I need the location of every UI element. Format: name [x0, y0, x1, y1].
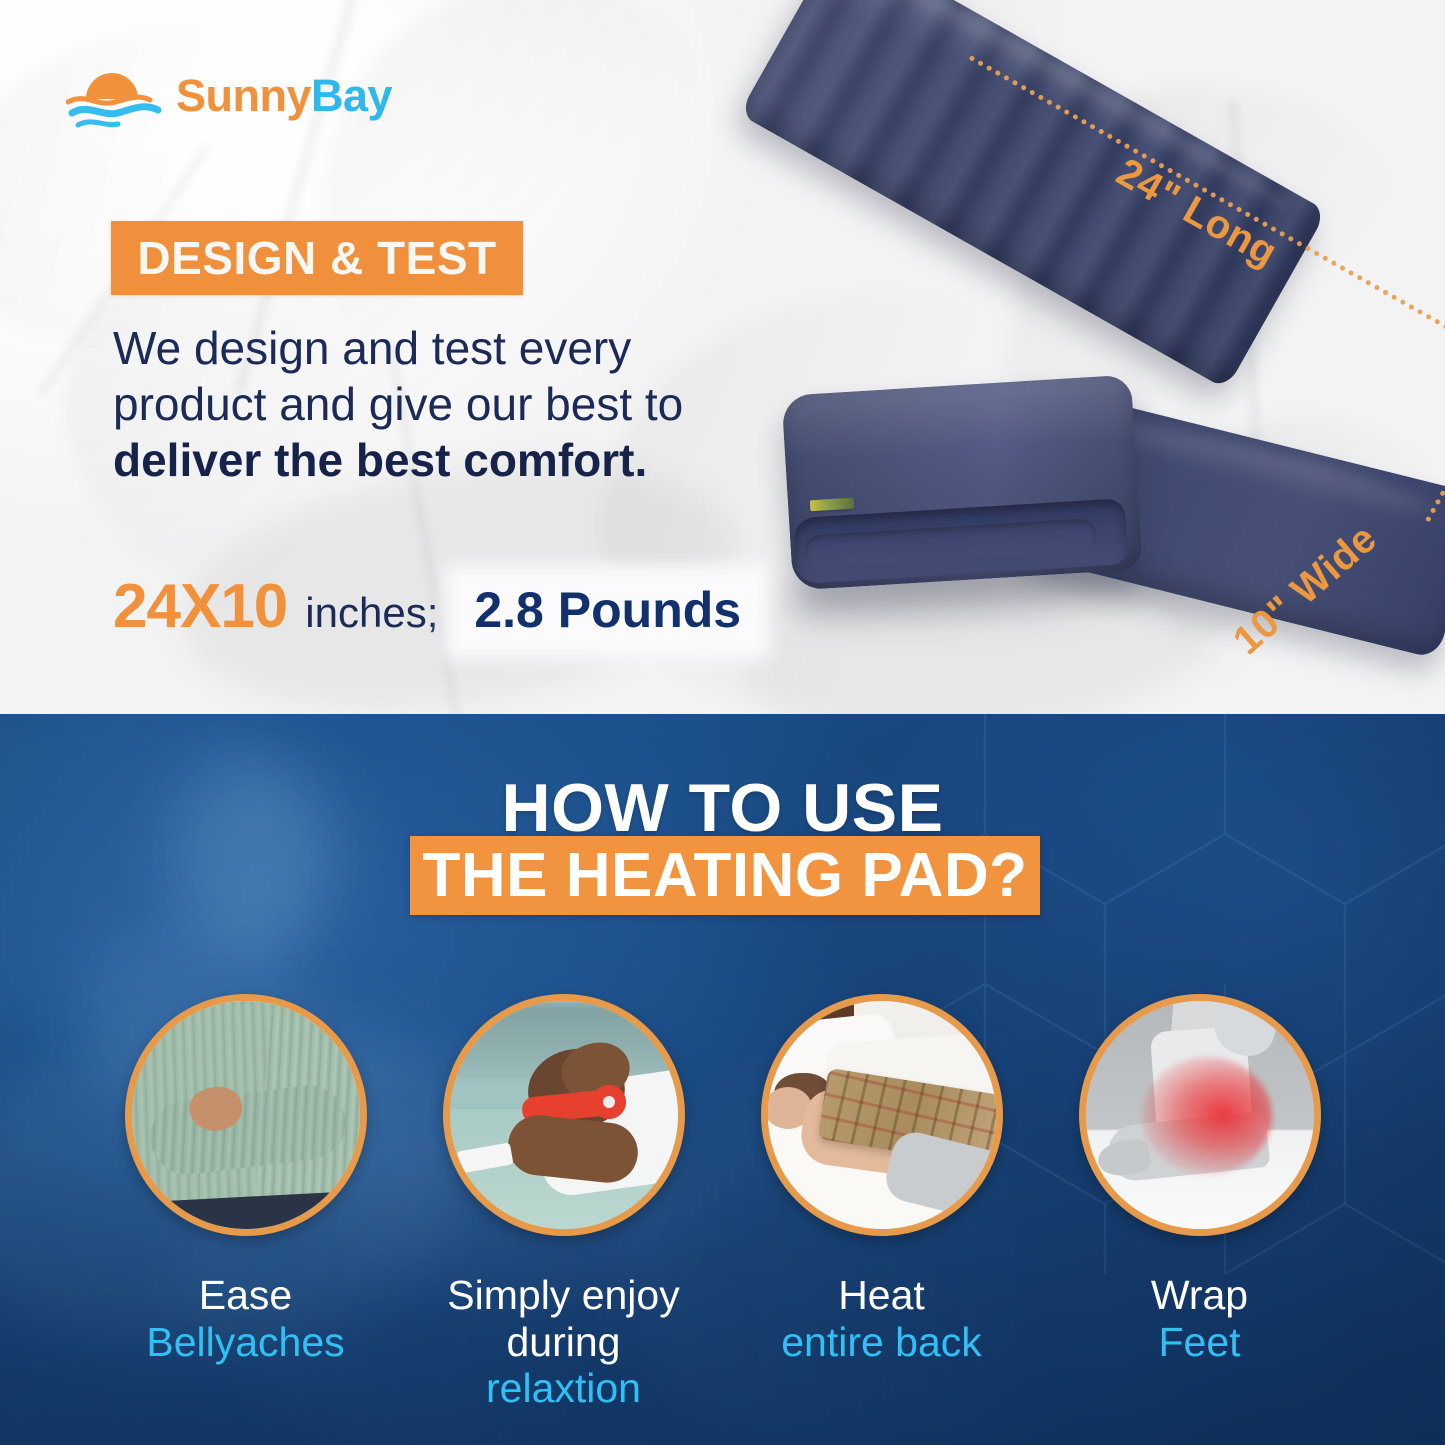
brand-wordmark: SunnyBay	[176, 73, 392, 118]
use-case-caption-bottom: during relaxtion	[431, 1319, 697, 1412]
man-relaxing-with-headphones-photo	[443, 994, 685, 1236]
heating-pad-folded	[781, 374, 1142, 590]
use-case-item: Ease Bellyaches	[113, 994, 379, 1365]
woman-holding-stomach-photo	[125, 994, 367, 1236]
size-dimensions: 24X10	[113, 576, 287, 638]
design-description-plain: We design and test every product and giv…	[113, 322, 683, 430]
how-to-use-section: HOW TO USE THE HEATING PAD?	[0, 714, 1445, 1445]
caption-prefix: during	[507, 1319, 621, 1365]
use-case-caption-top: Simply enjoy	[431, 1272, 697, 1319]
design-description: We design and test every product and giv…	[113, 320, 733, 488]
use-case-caption-bottom: Feet	[1151, 1319, 1248, 1366]
use-case-item: Simply enjoy during relaxtion	[431, 994, 697, 1412]
infographic-page: SunnyBay DESIGN & TEST We design and tes…	[0, 0, 1445, 1445]
use-case-list: Ease Bellyaches	[0, 994, 1445, 1424]
sun-wave-icon	[66, 53, 170, 137]
design-and-test-badge: DESIGN & TEST	[111, 221, 523, 295]
design-description-bold: deliver the best comfort.	[113, 434, 647, 486]
design-and-test-section: SunnyBay DESIGN & TEST We design and tes…	[0, 0, 1445, 714]
brand-tag-icon	[810, 498, 855, 512]
photo-content	[450, 1001, 678, 1229]
use-case-caption-top: Ease	[146, 1272, 344, 1319]
use-case-caption: Wrap Feet	[1151, 1272, 1248, 1365]
use-case-caption-top: Heat	[781, 1272, 982, 1319]
brand-name-bay: Bay	[311, 70, 392, 121]
caption-accent: Bellyaches	[146, 1319, 344, 1365]
use-case-caption-top: Wrap	[1151, 1272, 1248, 1319]
brand-name-sunny: Sunny	[176, 70, 311, 121]
caption-accent: entire back	[781, 1319, 982, 1365]
brand-logo: SunnyBay	[66, 48, 386, 142]
use-case-caption: Heat entire back	[781, 1272, 982, 1365]
use-case-caption-bottom: Bellyaches	[146, 1319, 344, 1366]
product-photo: 24" Long 10" Wide	[735, 20, 1445, 700]
photo-content	[1086, 1001, 1314, 1229]
design-and-test-badge-label: DESIGN & TEST	[137, 235, 496, 281]
woman-sleeping-with-pad-on-back-photo	[761, 994, 1003, 1236]
caption-accent: Feet	[1158, 1319, 1240, 1365]
how-to-use-heading: HOW TO USE	[0, 774, 1445, 842]
product-weight: 2.8 Pounds	[474, 582, 741, 638]
use-case-item: Wrap Feet	[1067, 994, 1333, 1365]
use-case-item: Heat entire back	[749, 994, 1015, 1365]
red-heat-glow-icon	[1142, 1057, 1272, 1175]
photo-content	[132, 1001, 360, 1229]
heating-pad-question-band: THE HEATING PAD?	[410, 836, 1040, 915]
weight-highlight: 2.8 Pounds	[460, 579, 755, 645]
use-case-caption: Ease Bellyaches	[146, 1272, 344, 1365]
photo-content	[768, 1001, 996, 1229]
use-case-caption: Simply enjoy during relaxtion	[431, 1272, 697, 1412]
heating-pad-question-label: THE HEATING PAD?	[422, 845, 1027, 907]
size-unit-label: inches;	[305, 592, 438, 634]
caption-accent: relaxtion	[486, 1365, 641, 1411]
red-headphone-cup-icon	[592, 1085, 626, 1119]
foot-with-heat-glow-photo	[1079, 994, 1321, 1236]
heating-pad-unfolded	[739, 0, 1327, 390]
size-specs: 24X10 inches; 2.8 Pounds	[113, 576, 755, 646]
use-case-caption-bottom: entire back	[781, 1319, 982, 1366]
